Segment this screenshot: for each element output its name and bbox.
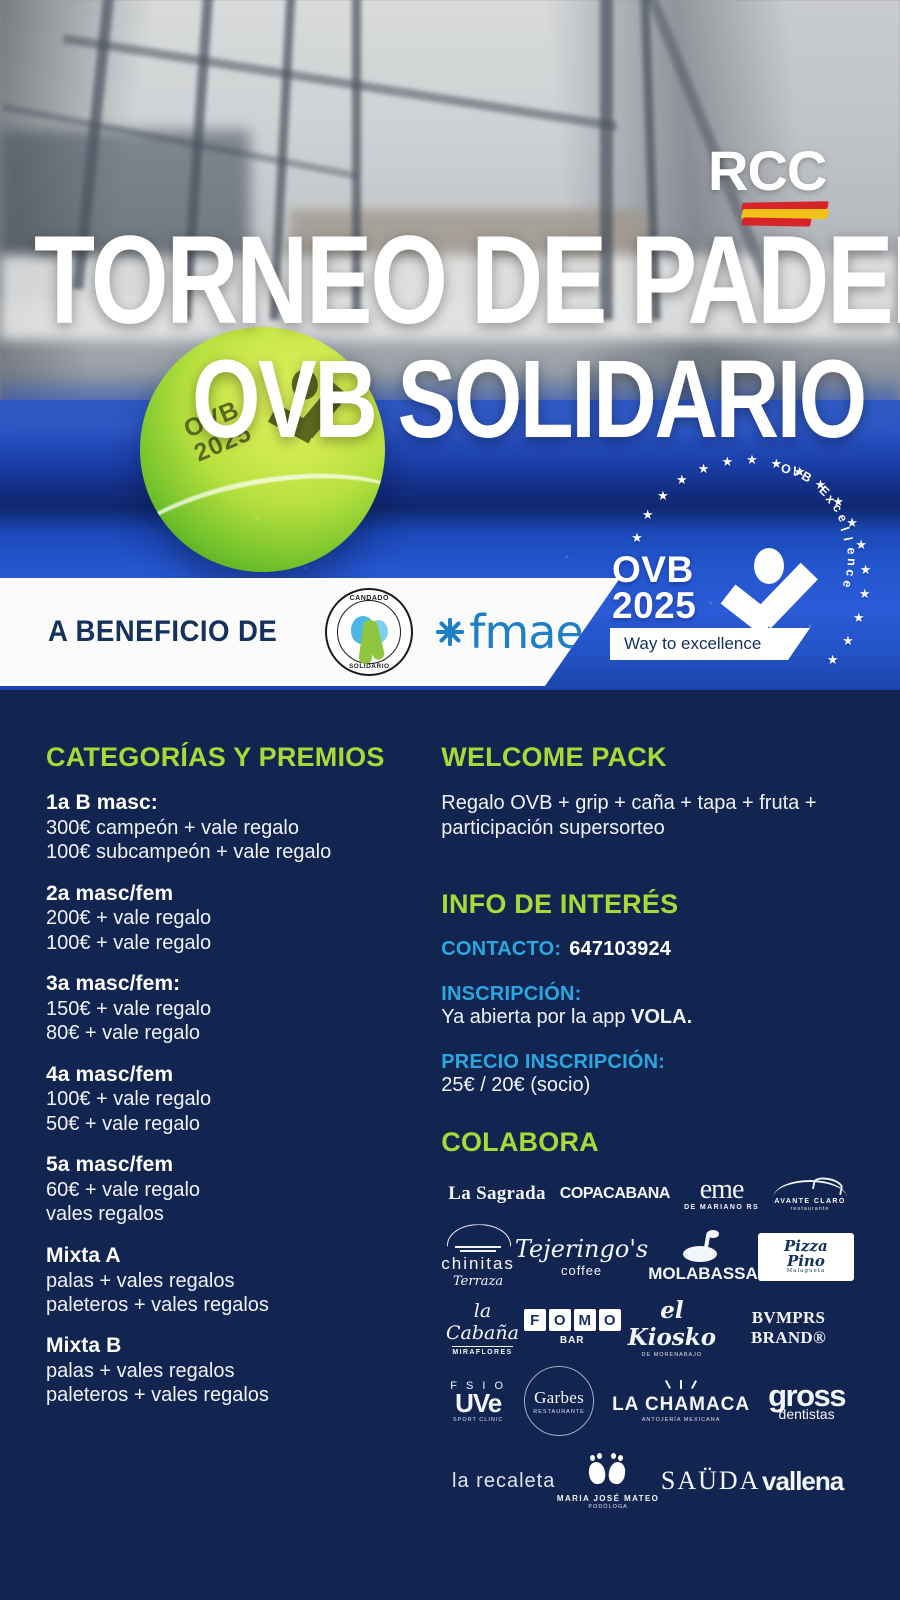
sponsor-name: La Sagrada (448, 1183, 546, 1205)
fomo-letter: F (524, 1309, 546, 1331)
registration-text-pre: Ya abierta por la app (441, 1006, 631, 1028)
court-frame-beam (63, 34, 618, 130)
sponsor-name-wrap: gross dentistas (768, 1382, 845, 1420)
sponsor-subtitle: Terraza (453, 1274, 503, 1289)
beneficiary-label: A BENEFICIO DE (48, 615, 277, 649)
sponsor-logo-la-chamaca: LA CHAMACA ANTOJERÍA MEXICANA (603, 1379, 759, 1423)
sponsor-logo-la-recaleta: la recaleta (451, 1459, 556, 1503)
badge-ovb-label: OVB (612, 552, 696, 588)
badge-star-icon: ★ (631, 531, 643, 544)
contact-label: CONTACTO: (441, 938, 561, 961)
sponsor-logo-fisio-uve: F S I O FISIO UVe UVe SPORT CLINIC (441, 1379, 515, 1423)
sponsor-subtitle: DE MARIANO RS (684, 1204, 759, 1211)
poster-root: OVB 2025 RCC TORNEO DE PADEL OVB SOLIDAR… (0, 0, 900, 1600)
badge-arc-char: B (799, 469, 814, 486)
category-block: Mixta A palas + vales regalos paleteros … (46, 1244, 429, 1318)
sponsor-logo-fomo-bar: F O M O BAR (524, 1306, 621, 1350)
sponsor-subtitle: DE MORENABAJO (642, 1352, 703, 1358)
category-prize-2: 80€ + vale regalo (46, 1021, 429, 1045)
sponsor-row: La Sagrada COPACABANA eme DE MARIANO RS … (441, 1172, 854, 1216)
sponsor-name: la Cabaña (441, 1300, 523, 1344)
badge-star-icon: ★ (642, 508, 654, 521)
category-block: 2a masc/fem 200€ + vale regalo 100€ + va… (46, 882, 429, 956)
registration-app-name: VOLA. (631, 1006, 692, 1028)
category-prize-2: 50€ + vale regalo (46, 1112, 429, 1136)
sponsor-logo-bvmprs-brand: BVMPRS BRAND® (723, 1306, 854, 1350)
sponsor-logo-copacabana: COPACABANA (553, 1172, 677, 1216)
fomo-letter: O (549, 1309, 571, 1331)
sponsor-row: la Cabaña MIRAFLORES F O M O BAR (441, 1297, 854, 1358)
sponsor-logo-gross-dentistas: gross dentistas (759, 1379, 854, 1423)
sponsor-name: AVANTE CLARO (774, 1198, 845, 1205)
sponsor-name: Tejeringo's (515, 1235, 648, 1263)
category-prize-1: 100€ + vale regalo (46, 1087, 429, 1111)
ovb-logo-icon (728, 548, 824, 640)
category-block: 1a B masc: 300€ campeón + vale regalo 10… (46, 791, 429, 865)
sponsor-logo-tejeringos-coffee: Tejeringo's coffee (515, 1235, 648, 1279)
badge-star-icon: ★ (698, 462, 710, 475)
info-heading: INFO DE INTERÉS (441, 889, 854, 920)
badge-star-icon: ★ (827, 653, 839, 666)
sponsor-logo-pizza-pino: Pizza Pino Malagueta (758, 1233, 854, 1281)
rcc-wordmark: RCC (708, 143, 828, 199)
sponsor-name: chinitas (441, 1254, 515, 1274)
sponsor-logo-el-kiosko: el Kiosko DE MORENABAJO (621, 1297, 723, 1358)
info-column: WELCOME PACK Regalo OVB + grip + caña + … (441, 742, 854, 1518)
sponsor-logo-sauda: SAÜDA (660, 1459, 761, 1503)
category-block: 5a masc/fem 60€ + vale regalo vales rega… (46, 1153, 429, 1227)
badge-star-icon: ★ (676, 473, 688, 486)
registration-block: INSCRIPCIÓN: Ya abierta por la app VOLA. (441, 983, 854, 1029)
badge-star-icon: ★ (842, 634, 854, 647)
sponsor-name: SAÜDA (661, 1466, 761, 1496)
sunset-icon (447, 1224, 509, 1254)
footprints-icon (587, 1452, 629, 1492)
category-prize-2: 100€ subcampeón + vale regalo (46, 840, 429, 864)
category-prize-1: 200€ + vale regalo (46, 906, 429, 930)
category-name: Mixta A (46, 1244, 429, 1269)
badge-arc-char: e (835, 512, 851, 524)
sponsor-name: el Kiosko (621, 1297, 723, 1351)
flamingo-icon (679, 1230, 727, 1264)
category-name: 5a masc/fem (46, 1153, 429, 1178)
candado-solidario-logo: CANDADO SOLIDARIO (325, 588, 413, 676)
ovb-excellence-badge: ★★★★★★★★★★★★★★★★★★ OVB Excellence OVB 20… (600, 452, 890, 688)
category-name: 4a masc/fem (46, 1063, 429, 1088)
sponsor-name: la recaleta (452, 1470, 555, 1493)
registration-label: INSCRIPCIÓN: (441, 983, 854, 1006)
contact-block: CONTACTO: 647103924 (441, 938, 854, 961)
sponsor-name-box: Pizza Pino Malagueta (758, 1233, 854, 1281)
wave-icon (773, 1176, 847, 1196)
category-block: Mixta B palas + vales regalos paleteros … (46, 1334, 429, 1408)
registration-text: Ya abierta por la app VOLA. (441, 1006, 854, 1029)
category-prize-1: palas + vales regalos (46, 1359, 429, 1383)
badge-star-icon: ★ (657, 489, 669, 502)
badge-year-label: 2025 (612, 588, 696, 624)
sponsor-name: vallena (762, 1466, 843, 1497)
badge-star-icon: ★ (859, 587, 871, 600)
sponsor-name: MOLABASSA (648, 1264, 758, 1284)
category-name: Mixta B (46, 1334, 429, 1359)
contact-row: CONTACTO: 647103924 (441, 938, 854, 961)
category-prize-2: paleteros + vales regalos (46, 1383, 429, 1407)
sponsors-section: COLABORA La Sagrada COPACABANA eme DE MA… (441, 1127, 854, 1510)
sponsor-row: chinitas Terraza Tejeringo's coffee MOLA… (441, 1224, 854, 1289)
sponsor-subtitle: restaurante (791, 1206, 830, 1212)
garbes-circle: Garbes RESTAURANTE (524, 1366, 594, 1436)
category-prize-2: paleteros + vales regalos (46, 1293, 429, 1317)
page-title-line1: TORNEO DE PADEL (34, 218, 900, 343)
categories-heading: CATEGORÍAS Y PREMIOS (46, 742, 429, 773)
price-block: PRECIO INSCRIPCIÓN: 25€ / 20€ (socio) (441, 1051, 854, 1097)
candado-bottom-text: SOLIDARIO (327, 663, 411, 670)
sponsor-name: eme (700, 1177, 744, 1202)
sponsor-name: LA CHAMACA (612, 1394, 750, 1416)
sponsor-row: la recaleta MARIA JOSÉ MATEO PODÓLOGA (441, 1444, 854, 1510)
fomo-letter-tiles: F O M O (524, 1309, 621, 1331)
price-value: 25€ / 20€ (socio) (441, 1074, 854, 1097)
category-prize-1: 300€ campeón + vale regalo (46, 816, 429, 840)
rays-icon (661, 1380, 701, 1392)
sponsor-subtitle: BAR (560, 1335, 585, 1346)
category-prize-1: palas + vales regalos (46, 1269, 429, 1293)
badge-arc-char: e (844, 547, 858, 555)
ovb-logo-dot (754, 548, 784, 584)
badge-star-icon: ★ (860, 563, 872, 576)
sponsor-logo-la-cabana-miraflores: la Cabaña MIRAFLORES (441, 1300, 523, 1356)
two-column-layout: CATEGORÍAS Y PREMIOS 1a B masc: 300€ cam… (0, 690, 900, 1518)
category-block: 4a masc/fem 100€ + vale regalo 50€ + val… (46, 1063, 429, 1137)
sponsor-logo-vallena: vallena (761, 1459, 844, 1503)
fomo-letter: O (599, 1309, 621, 1331)
badge-arc-char: n (844, 558, 858, 566)
sponsor-monogram: UVe (455, 1392, 501, 1415)
category-prize-2: vales regalos (46, 1202, 429, 1226)
sponsor-name: BVMPRS BRAND® (723, 1308, 854, 1348)
badge-star-icon: ★ (853, 611, 865, 624)
welcome-pack-heading: WELCOME PACK (441, 742, 854, 773)
sponsor-logo-chinitas-terraza: chinitas Terraza (441, 1224, 515, 1289)
sponsor-logo-molabassa: MOLABASSA (648, 1230, 758, 1284)
category-prize-1: 60€ + vale regalo (46, 1178, 429, 1202)
sponsor-subtitle: ANTOJERÍA MEXICANA (642, 1417, 721, 1423)
price-label: PRECIO INSCRIPCIÓN: (441, 1051, 854, 1074)
sponsor-subtitle: coffee (561, 1263, 602, 1278)
sponsor-subtitle: Malagueta (768, 1269, 844, 1275)
badge-arc-char: l (841, 536, 855, 542)
sponsor-name: MARIA JOSÉ MATEO (557, 1494, 659, 1503)
fomo-letter: M (574, 1309, 596, 1331)
category-name: 3a masc/fem: (46, 972, 429, 997)
sponsor-logo-avante-claro: AVANTE CLARO restaurante (766, 1172, 854, 1216)
badge-arc-text: OVB Excellence (750, 458, 880, 548)
hero-photo: OVB 2025 RCC TORNEO DE PADEL OVB SOLIDAR… (0, 0, 900, 690)
sponsor-logo-maria-jose-mateo: MARIA JOSÉ MATEO PODÓLOGA (556, 1452, 660, 1510)
sponsor-subtitle: PODÓLOGA (588, 1504, 627, 1510)
badge-star-icon: ★ (722, 455, 734, 468)
sponsor-logo-eme: eme DE MARIANO RS (677, 1172, 766, 1216)
sponsor-logo-garbes: Garbes RESTAURANTE (515, 1366, 603, 1436)
sponsor-name: COPACABANA (560, 1185, 670, 1203)
category-name: 1a B masc: (46, 791, 429, 816)
category-prize-1: 150€ + vale regalo (46, 997, 429, 1021)
candado-top-text: CANDADO (327, 595, 411, 602)
welcome-pack-text: Regalo OVB + grip + caña + tapa + fruta … (441, 791, 854, 841)
badge-tagline-label: Way to excellence (624, 634, 761, 654)
sponsor-subtitle: dentistas (768, 1408, 845, 1421)
page-title-line2: OVB SOLIDARIO (192, 345, 865, 455)
categories-column: CATEGORÍAS Y PREMIOS 1a B masc: 300€ cam… (46, 742, 429, 1518)
sponsor-row: F S I O FISIO UVe UVe SPORT CLINIC Garbe… (441, 1366, 854, 1436)
beneficiary-band: A BENEFICIO DE CANDADO SOLIDARIO fmaec (0, 578, 620, 686)
badge-tagline-ribbon: Way to excellence (610, 628, 810, 660)
contact-phone-value[interactable]: 647103924 (569, 938, 671, 961)
sponsor-subtitle: RESTAURANTE (533, 1409, 585, 1415)
fmaec-asterisk-icon (435, 617, 465, 647)
info-panel: CATEGORÍAS Y PREMIOS 1a B masc: 300€ cam… (0, 690, 900, 1600)
sponsor-name: Pizza Pino (784, 1237, 828, 1270)
sponsor-subtitle: MIRAFLORES (452, 1346, 512, 1356)
category-block: 3a masc/fem: 150€ + vale regalo 80€ + va… (46, 972, 429, 1046)
badge-ovb-text: OVB 2025 (612, 552, 696, 624)
badge-arc-char: l (838, 525, 852, 533)
sponsor-name: Garbes (534, 1388, 584, 1408)
category-name: 2a masc/fem (46, 882, 429, 907)
category-prize-2: 100€ + vale regalo (46, 931, 429, 955)
sponsor-subtitle: SPORT CLINIC (453, 1417, 503, 1423)
sponsor-logo-la-sagrada: La Sagrada (441, 1172, 552, 1216)
sponsors-heading: COLABORA (441, 1127, 854, 1158)
